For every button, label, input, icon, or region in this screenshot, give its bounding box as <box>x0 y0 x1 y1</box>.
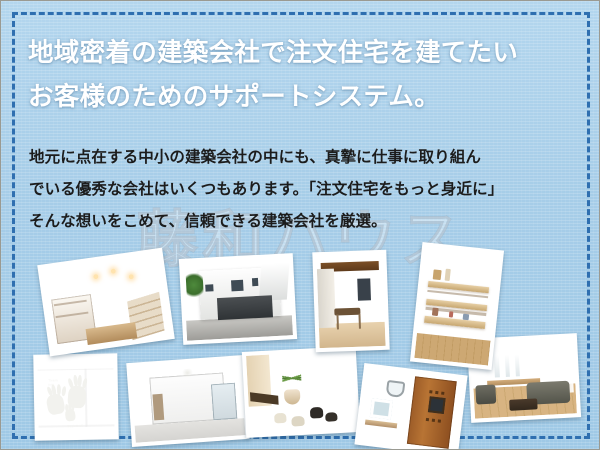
body-line-1: 地元に点在する中小の建築会社の中にも、真摯に仕事に取り組ん <box>29 142 581 174</box>
photo-house-exterior-image <box>183 257 293 340</box>
photo-empty-white-room-image <box>130 359 245 442</box>
photo-kitchen-interior[interactable] <box>37 248 175 357</box>
photo-wood-door-image <box>359 367 463 450</box>
body-copy: 地元に点在する中小の建築会社の中にも、真摯に仕事に取り組ん でいる優秀な会社はい… <box>29 142 581 238</box>
photo-handprint-tile-image: Thankyou 2011.9.15 <box>37 357 114 436</box>
photo-handprint-tile[interactable]: Thankyou 2011.9.15 <box>33 353 118 440</box>
headline-line-2: お客様のためのサポートシステム。 <box>28 75 576 119</box>
photo-wood-door[interactable] <box>354 363 467 450</box>
promo-banner: 藤和ハウス 地域密着の建築会社で注文住宅を建てたい お客様のためのサポートシステ… <box>0 0 600 450</box>
photo-loft-shelves[interactable] <box>410 242 504 370</box>
body-line-2: でいる優秀な会社はいくつもあります。「注文住宅をもっと身近に」 <box>29 174 581 206</box>
photo-house-exterior[interactable] <box>179 253 297 345</box>
headline: 地域密着の建築会社で注文住宅を建てたい お客様のためのサポートシステム。 <box>28 31 576 119</box>
photo-kitchen-interior-image <box>42 252 171 352</box>
photo-hallway-beam[interactable] <box>312 250 389 353</box>
photo-empty-white-room[interactable] <box>126 355 250 447</box>
photo-hallway-beam-image <box>316 254 385 348</box>
body-line-3: そんな想いをこめて、信頼できる建築会社を厳選。 <box>29 206 581 238</box>
headline-line-1: 地域密着の建築会社で注文住宅を建てたい <box>28 31 576 75</box>
photo-plant-corner-image <box>246 350 356 433</box>
photo-loft-shelves-image <box>414 246 499 365</box>
photo-plant-corner[interactable] <box>242 346 360 438</box>
